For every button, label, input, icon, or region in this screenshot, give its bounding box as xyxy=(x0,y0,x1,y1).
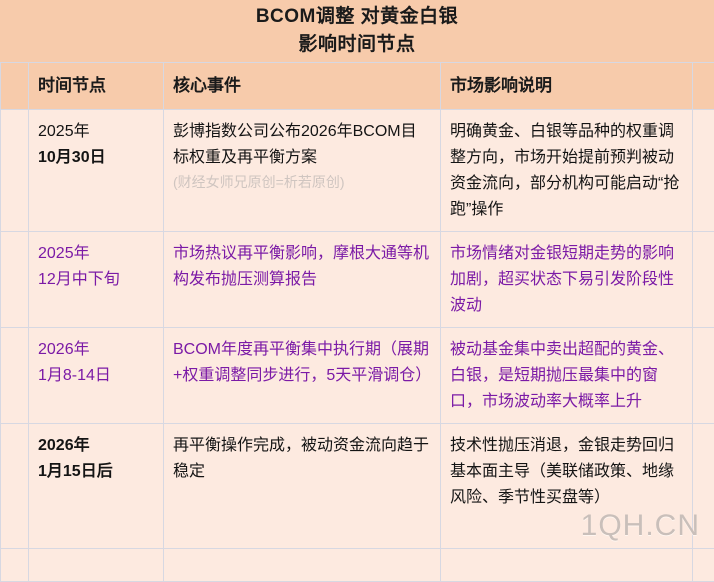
time-year: 2026年 xyxy=(38,337,155,363)
time-year: 2025年 xyxy=(38,241,155,267)
row-spacer-right xyxy=(693,110,714,232)
row-spacer-right xyxy=(693,549,714,582)
title-line-1: BCOM调整 对黄金白银 xyxy=(256,3,458,31)
row-spacer-right xyxy=(693,232,714,328)
row-spacer-right xyxy=(693,328,714,424)
title-line-2: 影响时间节点 xyxy=(298,31,415,59)
table-header-row: 时间节点 核心事件 市场影响说明 xyxy=(1,63,714,110)
table-row-empty xyxy=(1,549,714,582)
table-row: 2025年 10月30日 彭博指数公司公布2026年BCOM目标权重及再平衡方案… xyxy=(1,110,714,232)
time-year: 2025年 xyxy=(38,119,155,145)
event-cell-content: 再平衡操作完成，被动资金流向趋于稳定 xyxy=(164,424,440,493)
table-row: 2026年 1月15日后 再平衡操作完成，被动资金流向趋于稳定 技术性抛压消退，… xyxy=(1,424,714,549)
spreadsheet-sheet: BCOM调整 对黄金白银 影响时间节点 时间节点 核心事件 市场影响说明 xyxy=(0,0,714,565)
row-spacer-left xyxy=(1,328,29,424)
cell-impact: 被动基金集中卖出超配的黄金、白银，是短期抛压最集中的窗口，市场波动率大概率上升 xyxy=(441,328,693,424)
header-label-impact: 市场影响说明 xyxy=(441,63,692,98)
header-cell-time: 时间节点 xyxy=(29,63,164,110)
impact-cell-content: 明确黄金、白银等品种的权重调整方向，市场开始提前预判被动资金流向，部分机构可能启… xyxy=(441,110,692,231)
event-watermark-note: (财经女师兄原创=析若原创) xyxy=(173,171,432,193)
cell-time: 2025年 10月30日 xyxy=(29,110,164,232)
time-date: 1月8-14日 xyxy=(38,363,155,389)
row-spacer-left xyxy=(1,424,29,549)
impact-cell-content: 技术性抛压消退，金银走势回归基本面主导（美联储政策、地缘风险、季节性买盘等） xyxy=(441,424,692,519)
time-cell-content: 2025年 12月中下旬 xyxy=(29,232,163,301)
cell-event: 再平衡操作完成，被动资金流向趋于稳定 xyxy=(164,424,441,549)
cell-time-empty xyxy=(29,549,164,582)
time-date: 1月15日后 xyxy=(38,459,155,485)
header-cell-impact: 市场影响说明 xyxy=(441,63,693,110)
impact-cell-content: 被动基金集中卖出超配的黄金、白银，是短期抛压最集中的窗口，市场波动率大概率上升 xyxy=(441,328,692,423)
row-spacer-left xyxy=(1,232,29,328)
time-year: 2026年 xyxy=(38,433,155,459)
time-cell-content: 2026年 1月15日后 xyxy=(29,424,163,493)
table-row: 2025年 12月中下旬 市场热议再平衡影响，摩根大通等机构发布抛压测算报告 市… xyxy=(1,232,714,328)
time-cell-content: 2025年 10月30日 xyxy=(29,110,163,179)
cell-impact: 明确黄金、白银等品种的权重调整方向，市场开始提前预判被动资金流向，部分机构可能启… xyxy=(441,110,693,232)
header-label-event: 核心事件 xyxy=(164,63,440,98)
event-cell-content: 市场热议再平衡影响，摩根大通等机构发布抛压测算报告 xyxy=(164,232,440,301)
header-label-time: 时间节点 xyxy=(29,63,163,98)
row-spacer-right xyxy=(693,424,714,549)
cell-event-empty xyxy=(164,549,441,582)
event-cell-content: 彭博指数公司公布2026年BCOM目标权重及再平衡方案 (财经女师兄原创=析若原… xyxy=(164,110,440,201)
impact-cell-content: 市场情绪对金银短期走势的影响加剧，超买状态下易引发阶段性波动 xyxy=(441,232,692,327)
event-text: 彭博指数公司公布2026年BCOM目标权重及再平衡方案 xyxy=(173,119,432,171)
header-cell-event: 核心事件 xyxy=(164,63,441,110)
cell-impact: 技术性抛压消退，金银走势回归基本面主导（美联储政策、地缘风险、季节性买盘等） xyxy=(441,424,693,549)
event-text: 再平衡操作完成，被动资金流向趋于稳定 xyxy=(173,433,432,485)
time-cell-content: 2026年 1月8-14日 xyxy=(29,328,163,397)
cell-event: BCOM年度再平衡集中执行期（展期+权重调整同步进行，5天平滑调仓） xyxy=(164,328,441,424)
table-row: 2026年 1月8-14日 BCOM年度再平衡集中执行期（展期+权重调整同步进行… xyxy=(1,328,714,424)
cell-impact: 市场情绪对金银短期走势的影响加剧，超买状态下易引发阶段性波动 xyxy=(441,232,693,328)
cell-impact-empty xyxy=(441,549,693,582)
row-spacer-left xyxy=(1,110,29,232)
cell-time: 2025年 12月中下旬 xyxy=(29,232,164,328)
event-text: 市场热议再平衡影响，摩根大通等机构发布抛压测算报告 xyxy=(173,241,432,293)
row-spacer-left xyxy=(1,549,29,582)
cell-time: 2026年 1月15日后 xyxy=(29,424,164,549)
cell-event: 市场热议再平衡影响，摩根大通等机构发布抛压测算报告 xyxy=(164,232,441,328)
header-cell-spacer-right xyxy=(693,63,714,110)
cell-time: 2026年 1月8-14日 xyxy=(29,328,164,424)
cell-event: 彭博指数公司公布2026年BCOM目标权重及再平衡方案 (财经女师兄原创=析若原… xyxy=(164,110,441,232)
table-title-banner: BCOM调整 对黄金白银 影响时间节点 xyxy=(0,0,714,62)
time-date: 10月30日 xyxy=(38,145,155,171)
timeline-table: 时间节点 核心事件 市场影响说明 2025年 10月30日 彭博指数公司公布20… xyxy=(0,62,714,582)
event-text: BCOM年度再平衡集中执行期（展期+权重调整同步进行，5天平滑调仓） xyxy=(173,337,432,389)
header-cell-spacer-left xyxy=(1,63,29,110)
event-cell-content: BCOM年度再平衡集中执行期（展期+权重调整同步进行，5天平滑调仓） xyxy=(164,328,440,397)
time-date: 12月中下旬 xyxy=(38,267,155,293)
